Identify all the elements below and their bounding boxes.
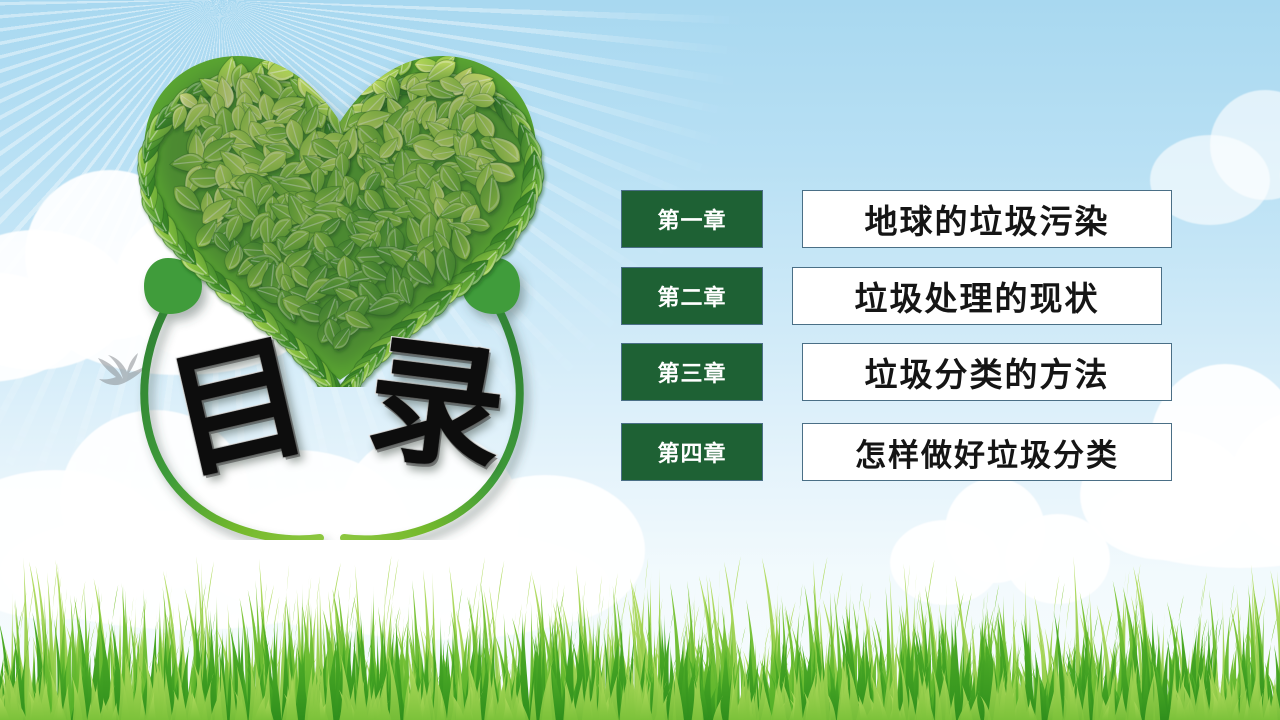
chapter-title-box[interactable]: 垃圾分类的方法 xyxy=(802,343,1172,401)
toc-row[interactable]: 第一章 地球的垃圾污染 xyxy=(621,190,1181,248)
chapter-chip[interactable]: 第三章 xyxy=(621,343,763,401)
heart-shadow xyxy=(144,58,540,378)
chapter-title-box[interactable]: 怎样做好垃圾分类 xyxy=(802,423,1172,481)
chapter-chip[interactable]: 第四章 xyxy=(621,423,763,481)
chapter-chip[interactable]: 第二章 xyxy=(621,267,763,325)
chapter-title-box[interactable]: 垃圾处理的现状 xyxy=(792,267,1162,325)
toc-row[interactable]: 第四章 怎样做好垃圾分类 xyxy=(621,423,1181,481)
chapter-title-box[interactable]: 地球的垃圾污染 xyxy=(802,190,1172,248)
toc-row[interactable]: 第三章 垃圾分类的方法 xyxy=(621,343,1181,401)
chapter-chip[interactable]: 第一章 xyxy=(621,190,763,248)
toc-list: 第一章 地球的垃圾污染 第二章 垃圾处理的现状 第三章 垃圾分类的方法 第四章 … xyxy=(621,190,1181,490)
toc-row[interactable]: 第二章 垃圾处理的现状 xyxy=(621,267,1181,325)
slide-canvas: 目 录 第一章 地球的垃圾污染 第二章 垃圾处理的现状 第三章 垃圾分类的方法 … xyxy=(0,0,1280,720)
title-char-lu: 录 xyxy=(360,330,512,482)
grass-field xyxy=(0,520,1280,720)
